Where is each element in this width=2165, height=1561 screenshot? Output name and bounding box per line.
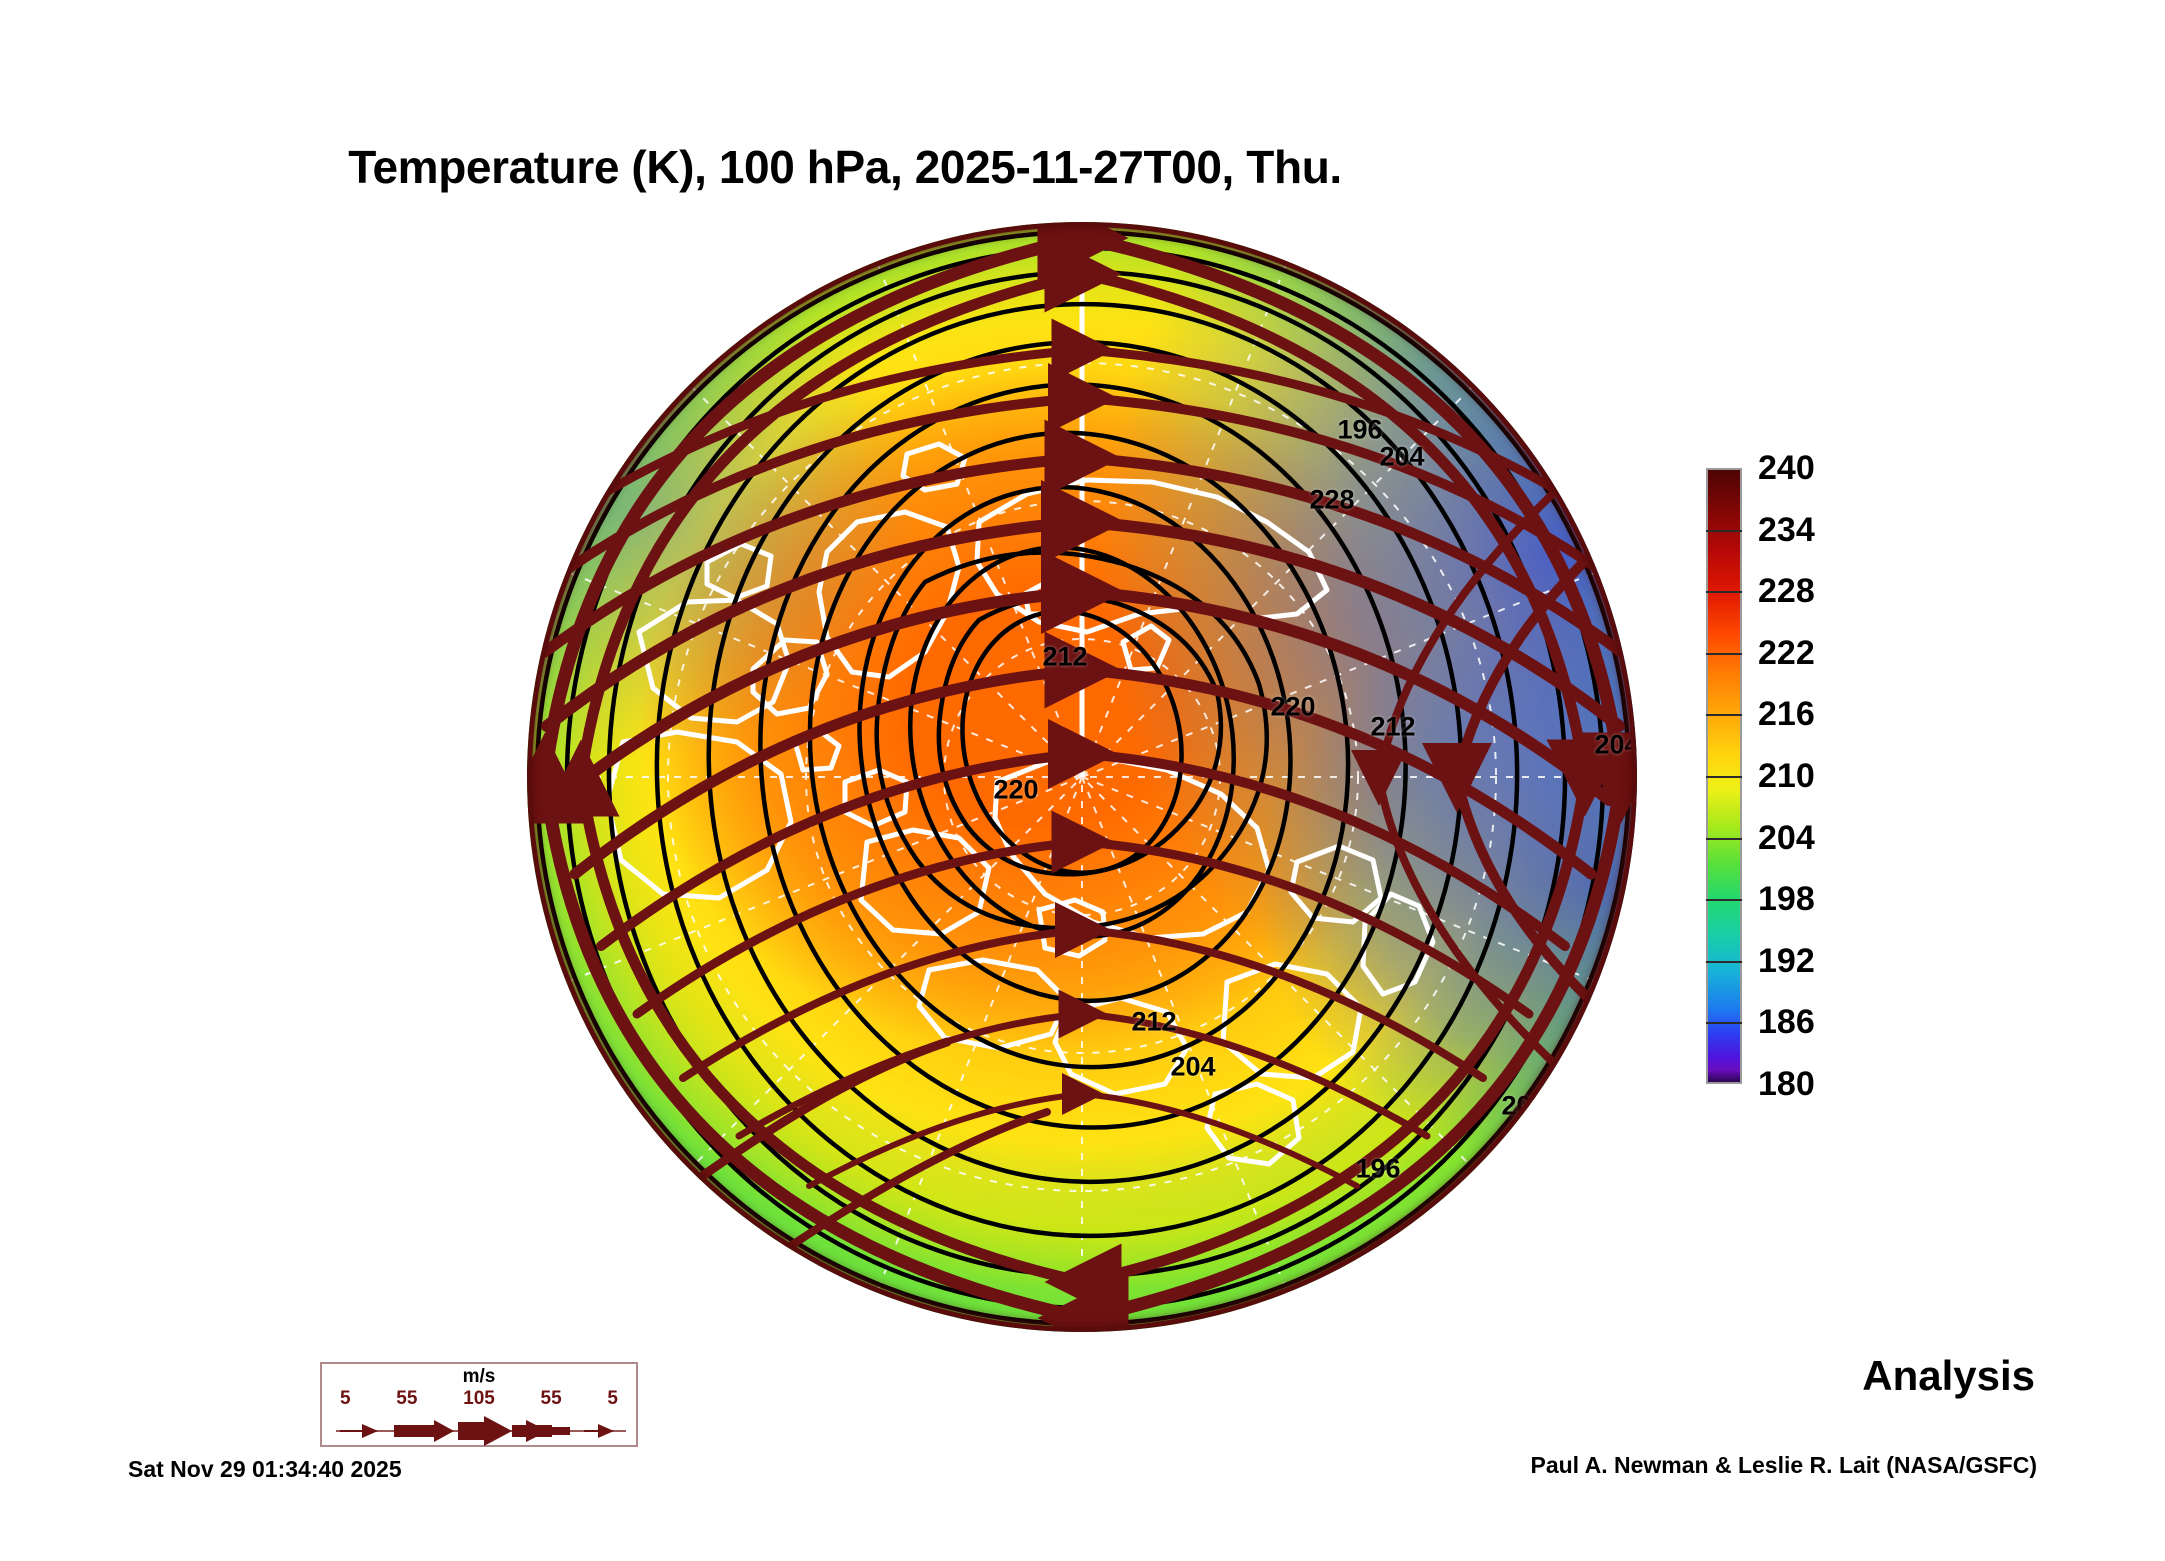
colorbar-tick bbox=[1706, 714, 1742, 716]
colorbar-label-216: 216 bbox=[1758, 697, 1815, 731]
colorbar-label-198: 198 bbox=[1758, 882, 1815, 916]
colorbar-tick bbox=[1706, 1022, 1742, 1024]
colorbar-label-240: 240 bbox=[1758, 451, 1815, 485]
colorbar-tick bbox=[1706, 838, 1742, 840]
wind-tick-3: 55 bbox=[541, 1388, 562, 1410]
colorbar-label-204: 204 bbox=[1758, 821, 1815, 855]
colorbar-label-222: 222 bbox=[1758, 636, 1815, 670]
colorbar-label-210: 210 bbox=[1758, 759, 1815, 793]
colorbar-label-186: 186 bbox=[1758, 1005, 1815, 1039]
wind-tick-0: 5 bbox=[340, 1388, 351, 1410]
generation-timestamp: Sat Nov 29 01:34:40 2025 bbox=[128, 1456, 402, 1483]
colorbar-tick bbox=[1706, 530, 1742, 532]
wind-tick-4: 5 bbox=[607, 1388, 618, 1410]
colorbar-tick bbox=[1706, 653, 1742, 655]
wind-tick-2: 105 bbox=[463, 1388, 495, 1410]
wind-unit-label: m/s bbox=[322, 1366, 636, 1388]
colorbar-tick bbox=[1706, 591, 1742, 593]
colorbar-tick bbox=[1706, 899, 1742, 901]
analysis-label: Analysis bbox=[1862, 1352, 2035, 1400]
wind-tick-labels: 5 55 105 55 5 bbox=[322, 1388, 636, 1410]
wind-arrow-scale bbox=[336, 1416, 626, 1451]
author-credit: Paul A. Newman & Leslie R. Lait (NASA/GS… bbox=[1530, 1452, 2037, 1479]
colorbar-label-192: 192 bbox=[1758, 944, 1815, 978]
colorbar-label-234: 234 bbox=[1758, 513, 1815, 547]
colorbar-label-228: 228 bbox=[1758, 574, 1815, 608]
polar-map[interactable]: 196204228212220212220204196212204208196 bbox=[527, 222, 1637, 1332]
wind-arrow-icons bbox=[336, 1416, 626, 1446]
colorbar-tick bbox=[1706, 961, 1742, 963]
colorbar-tick bbox=[1706, 776, 1742, 778]
colorbar-label-180: 180 bbox=[1758, 1067, 1815, 1101]
wind-speed-legend: m/s 5 55 105 55 5 bbox=[320, 1362, 638, 1447]
map-rim bbox=[527, 222, 1637, 1332]
map-disc: 196204228212220212220204196212204208196 bbox=[527, 222, 1637, 1332]
page-title: Temperature (K), 100 hPa, 2025-11-27T00,… bbox=[0, 140, 1690, 194]
wind-tick-1: 55 bbox=[396, 1388, 417, 1410]
colorbar[interactable]: 240234228222216210204198192186180 bbox=[1706, 468, 1936, 1084]
